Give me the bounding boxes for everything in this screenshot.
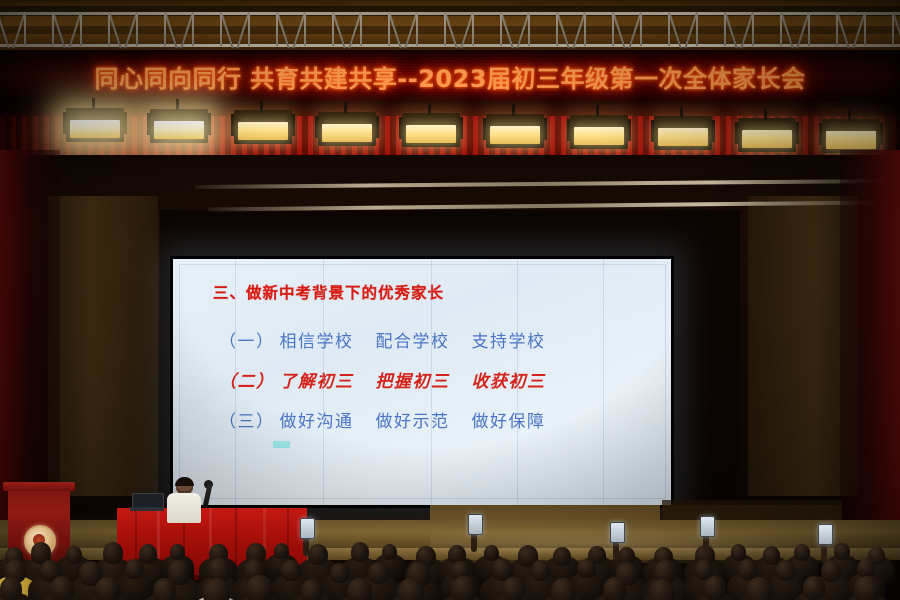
slide-line-3-seg-3: 做好保障: [472, 412, 546, 432]
audience-head: [451, 576, 476, 600]
led-banner-text: 同心同向同行 共育共建共享--2023届初三年级第一次全体家长会: [0, 50, 900, 102]
lamp-face: [70, 120, 120, 138]
audience-head: [351, 542, 369, 561]
audience-head: [577, 559, 595, 579]
stage-light: [486, 114, 544, 148]
lamp-yoke-left: [651, 120, 654, 142]
lamp-hanger: [428, 103, 431, 115]
audience-head: [746, 577, 772, 600]
audience-head: [502, 577, 525, 600]
lamp-face: [826, 131, 876, 149]
lamp-face: [238, 122, 288, 140]
truss-diagonal: [724, 12, 738, 49]
lamp-hanger: [680, 106, 683, 118]
projection-screen-surface: 三、做新中考背景下的优秀家长 （一）相信学校配合学校支持学校 （二）了解初三把握…: [173, 259, 671, 505]
lamp-face: [322, 124, 372, 142]
led-banner: 同心同向同行 共育共建共享--2023届初三年级第一次全体家长会: [0, 50, 900, 102]
audience-head: [398, 578, 424, 600]
slide-line-3-seg-2: 做好示范: [376, 412, 450, 432]
lamp-face: [154, 121, 204, 139]
lamp-hanger: [344, 102, 347, 114]
lamp-yoke-left: [483, 118, 486, 140]
audience-head: [50, 576, 74, 600]
slide-line-1-number: （一）: [219, 332, 275, 352]
audience-head: [603, 577, 626, 600]
lamp-hanger: [176, 99, 179, 111]
truss-rail-bottom: [0, 44, 900, 47]
audience-head: [308, 544, 328, 566]
screen-streak: [603, 259, 604, 505]
slide-line-1-seg-1: 相信学校: [280, 332, 354, 352]
lamp-yoke-left: [735, 122, 738, 144]
side-curtain-left: [0, 150, 60, 520]
lamp-yoke-right: [880, 123, 883, 145]
lamp-hanger: [596, 105, 599, 117]
audience-head: [103, 542, 123, 564]
smartphone-icon: [818, 524, 833, 545]
screen-streak: [517, 259, 518, 505]
lamp-face: [574, 127, 624, 145]
stage-light: [66, 108, 124, 142]
audience-head: [274, 543, 289, 560]
lamp-yoke-left: [231, 114, 234, 136]
audience-head: [368, 562, 389, 585]
lamp-yoke-right: [124, 112, 127, 134]
audience: [0, 512, 900, 600]
projection-screen: 三、做新中考背景下的优秀家长 （一）相信学校配合学校支持学校 （二）了解初三把握…: [170, 256, 674, 508]
audience-head: [834, 543, 850, 560]
audience-head: [246, 575, 272, 600]
ceiling-truss: [0, 10, 900, 50]
lamp-hanger: [512, 104, 515, 116]
side-curtain-right: [840, 150, 900, 520]
lamp-hanger: [848, 109, 851, 121]
stage-pillar-left: [48, 196, 158, 496]
slide-line-2: （二）了解初三把握初三收获初三: [219, 367, 568, 392]
audience-head: [731, 544, 746, 561]
slide-line-2-seg-2: 把握初三: [376, 372, 450, 392]
lamp-face: [658, 128, 708, 146]
lamp-hanger: [92, 98, 95, 110]
truss-diagonal: [780, 12, 794, 49]
lamp-yoke-left: [399, 117, 402, 139]
audience-head: [794, 544, 810, 561]
slide-line-2-seg-1: 了解初三: [280, 372, 354, 392]
audience-head: [95, 577, 119, 600]
slide-line-2-number: （二）: [219, 372, 275, 392]
stage-light: [234, 110, 292, 144]
lamp-yoke-left: [147, 113, 150, 135]
lamp-yoke-right: [292, 114, 295, 136]
lamp-yoke-left: [315, 116, 318, 138]
audience-head: [330, 563, 349, 583]
stage-light: [150, 109, 208, 143]
smartphone-icon: [300, 518, 315, 539]
audience-head: [281, 560, 301, 581]
lamp-yoke-left: [63, 112, 66, 134]
stage-light: [318, 112, 376, 146]
truss-diagonal: [836, 12, 850, 49]
smartphone-icon: [468, 514, 483, 535]
presenter-hair: [175, 477, 194, 486]
truss-diagonal: [164, 12, 178, 49]
lamp-yoke-right: [796, 122, 799, 144]
lamp-yoke-right: [460, 117, 463, 139]
truss-diagonal: [556, 12, 570, 49]
truss-diagonal: [276, 12, 290, 49]
lamp-yoke-right: [376, 116, 379, 138]
lamp-yoke-right: [208, 113, 211, 135]
smartphone-icon: [700, 516, 715, 537]
audience-head: [803, 576, 826, 600]
laptop-icon: [130, 493, 164, 511]
lamp-yoke-left: [567, 119, 570, 141]
audience-head: [125, 559, 144, 579]
audience-head: [0, 577, 22, 600]
lamp-face: [406, 125, 456, 143]
lamp-yoke-right: [544, 118, 547, 140]
slide-title: 三、做新中考背景下的优秀家长: [213, 281, 444, 303]
audience-head: [763, 546, 781, 565]
auditorium-photo: 同心同向同行 共育共建共享--2023届初三年级第一次全体家长会 三、做新中考背…: [0, 0, 900, 600]
audience-head: [704, 576, 727, 600]
audience-head: [776, 560, 795, 580]
truss-diagonal: [668, 12, 682, 49]
audience-head: [857, 558, 875, 578]
stage-light: [402, 113, 460, 147]
truss-diagonal: [220, 12, 234, 49]
stage-light: [822, 119, 880, 153]
screen-streak: [431, 259, 432, 505]
audience-head: [553, 547, 571, 566]
slide-line-3-seg-1: 做好沟通: [280, 412, 354, 432]
screen-streak: [323, 259, 324, 505]
slide-line-3: （三）做好沟通做好示范做好保障: [219, 407, 568, 432]
stage-light: [738, 118, 796, 152]
lamp-hanger: [764, 108, 767, 120]
audience-head: [551, 578, 576, 600]
lamp-hanger: [260, 100, 263, 112]
smartphone-icon: [610, 522, 625, 543]
slide-line-2-seg-3: 收获初三: [472, 372, 546, 392]
audience-head: [854, 576, 879, 600]
truss-diagonal: [0, 12, 10, 49]
audience-head: [203, 578, 230, 600]
truss-diagonal: [388, 12, 402, 49]
audience-head: [139, 544, 157, 564]
screen-streak: [235, 259, 236, 505]
audience-head: [153, 578, 176, 600]
slide-cursor-highlight: [273, 441, 290, 448]
slide-line-1-seg-3: 支持学校: [472, 332, 546, 352]
lamp-yoke-right: [628, 119, 631, 141]
audience-head: [301, 579, 323, 600]
lamp-yoke-right: [712, 120, 715, 142]
truss-diagonal: [612, 12, 626, 49]
slide-line-1-seg-2: 配合学校: [376, 332, 450, 352]
lectern-top: [3, 482, 75, 491]
audience-head: [821, 560, 841, 582]
audience-head: [382, 544, 397, 560]
lamp-yoke-left: [819, 123, 822, 145]
truss-diagonal: [444, 12, 458, 49]
laptop-base: [130, 507, 164, 511]
lamp-face: [490, 126, 540, 144]
audience-head: [66, 546, 83, 564]
audience-head: [170, 544, 185, 561]
truss-diagonal: [52, 12, 66, 49]
truss-diagonal: [500, 12, 514, 49]
truss-diagonal: [332, 12, 346, 49]
slide-line-1: （一）相信学校配合学校支持学校: [219, 327, 568, 352]
lamp-face: [742, 130, 792, 148]
audience-head: [531, 560, 550, 581]
stage-light: [654, 116, 712, 150]
truss-diagonal: [108, 12, 122, 49]
slide-line-3-number: （三）: [219, 412, 275, 432]
stage-light: [570, 115, 628, 149]
